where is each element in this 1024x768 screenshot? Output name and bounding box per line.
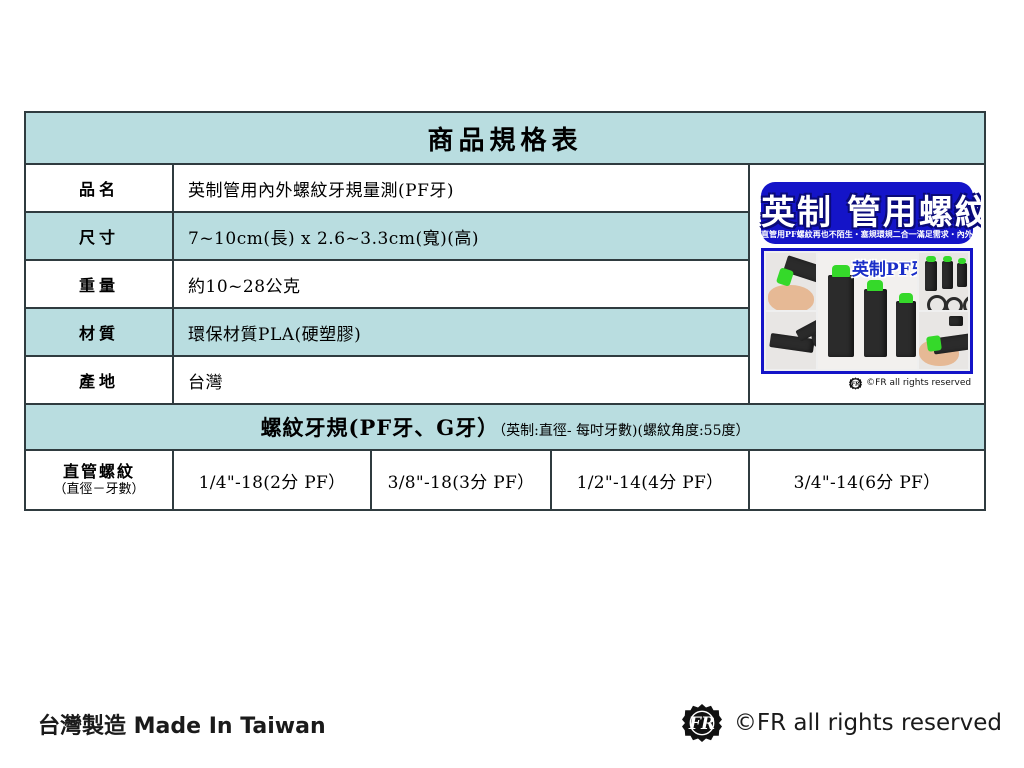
spec-label-material: 材質: [25, 308, 173, 356]
table-row: 品名 英制管用內外螺紋牙規量測(PF牙) 英制 管用螺紋牙規 直管用PF螺紋再也…: [25, 164, 985, 212]
photo-tile-hand-holding-gauge: [766, 253, 816, 310]
table-title-row: 商品規格表: [25, 112, 985, 164]
thread-header-row: 螺紋牙規(PF牙、G牙）（英制:直徑- 每吋牙數)(螺紋角度:55度）: [25, 404, 985, 450]
spec-label-size: 尺寸: [25, 212, 173, 260]
promo-banner-title: 英制 管用螺紋牙規: [761, 185, 973, 234]
spec-label-weight: 重量: [25, 260, 173, 308]
promo-photo: 英制PF牙: [761, 248, 973, 374]
footer-copyright: FR ©FR all rights reserved: [682, 703, 1002, 743]
svg-text:FR: FR: [851, 381, 861, 387]
photo-tile-gauge-set: [919, 253, 969, 310]
thread-size-4: 3/4"-14(6分 PF）: [749, 450, 985, 510]
thread-spec-header: 螺紋牙規(PF牙、G牙）（英制:直徑- 每吋牙數)(螺紋角度:55度）: [25, 404, 985, 450]
spec-value-name: 英制管用內外螺紋牙規量測(PF牙): [173, 164, 749, 212]
product-spec-table: 商品規格表 品名 英制管用內外螺紋牙規量測(PF牙) 英制 管用螺紋牙規 直管用…: [24, 111, 986, 511]
thread-row-label-sub: （直徑－牙數）: [26, 482, 172, 498]
footer-made-in-taiwan: 台灣製造 Made In Taiwan: [38, 708, 326, 740]
photo-tile-gauge-group: [766, 312, 816, 369]
thread-sizes-row: 直管螺紋 （直徑－牙數） 1/4"-18(2分 PF） 3/8"-18(3分 P…: [25, 450, 985, 510]
thread-size-3: 1/2"-14(4分 PF）: [551, 450, 749, 510]
footer-copyright-text: ©FR all rights reserved: [734, 710, 1002, 736]
page-title: 商品規格表: [25, 112, 985, 164]
spec-label-origin: 產地: [25, 356, 173, 404]
photo-tile-hand-holding-gauge-2: [919, 312, 969, 369]
fr-gear-logo-icon: FR: [849, 377, 862, 390]
thread-size-2: 3/8"-18(3分 PF）: [371, 450, 551, 510]
thread-size-1: 1/4"-18(2分 PF）: [173, 450, 371, 510]
fr-gear-logo-icon: FR: [682, 703, 722, 743]
fr-logo-text: FR: [688, 714, 715, 734]
thread-row-label: 直管螺紋 （直徑－牙數）: [25, 450, 173, 510]
spec-value-material: 環保材質PLA(硬塑膠): [173, 308, 749, 356]
thread-row-label-main: 直管螺紋: [26, 462, 172, 482]
promo-container: 英制 管用螺紋牙規 直管用PF螺紋再也不陌生‧塞規環規二合一滿足需求‧內外螺紋都…: [753, 178, 981, 391]
promo-banner: 英制 管用螺紋牙規 直管用PF螺紋再也不陌生‧塞規環規二合一滿足需求‧內外螺紋都…: [761, 182, 973, 244]
product-promo-image: 英制 管用螺紋牙規 直管用PF螺紋再也不陌生‧塞規環規二合一滿足需求‧內外螺紋都…: [749, 164, 985, 404]
photo-tile-gauge-lineup: 英制PF牙: [818, 253, 917, 369]
spec-value-size: 7~10cm(長) x 2.6~3.3cm(寬)(高): [173, 212, 749, 260]
promo-banner-subtitle: 直管用PF螺紋再也不陌生‧塞規環規二合一滿足需求‧內外螺紋都能勝任!: [761, 229, 973, 240]
spec-value-origin: 台灣: [173, 356, 749, 404]
thread-spec-header-sub: （英制:直徑- 每吋牙數)(螺紋角度:55度）: [499, 423, 749, 439]
promo-photo-grid: 英制PF牙: [764, 251, 970, 371]
spec-value-weight: 約10~28公克: [173, 260, 749, 308]
promo-credit-text: ©FR all rights reserved: [866, 378, 971, 388]
spec-label-name: 品名: [25, 164, 173, 212]
promo-photo-label: 英制PF牙: [852, 255, 917, 280]
thread-spec-header-main: 螺紋牙規(PF牙、G牙）: [261, 415, 500, 440]
promo-credit: FR ©FR all rights reserved: [849, 377, 971, 390]
